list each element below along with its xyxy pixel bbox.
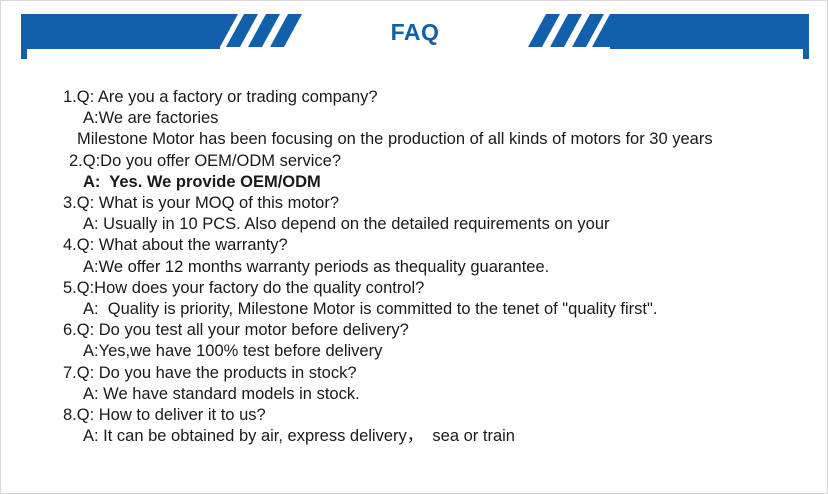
faq-question: 4.Q: What about the warranty? xyxy=(1,235,828,256)
faq-list: 1.Q: Are you a factory or trading compan… xyxy=(1,87,828,447)
faq-continuation: Milestone Motor has been focusing on the… xyxy=(1,129,828,150)
faq-answer: A: We have standard models in stock. xyxy=(1,384,828,405)
faq-question: 2.Q:Do you offer OEM/ODM service? xyxy=(1,151,828,172)
faq-question: 5.Q:How does your factory do the quality… xyxy=(1,278,828,299)
faq-question: 8.Q: How to deliver it to us? xyxy=(1,405,828,426)
faq-page: FAQ 1.Q: Are you a factory or trading co… xyxy=(0,0,828,494)
faq-question: 3.Q: What is your MOQ of this motor? xyxy=(1,193,828,214)
faq-answer: A: Usually in 10 PCS. Also depend on the… xyxy=(1,214,828,235)
faq-answer: A:We are factories xyxy=(1,108,828,129)
faq-answer: A: Yes. We provide OEM/ODM xyxy=(1,172,828,193)
faq-question: 1.Q: Are you a factory or trading compan… xyxy=(1,87,828,108)
faq-question: 6.Q: Do you test all your motor before d… xyxy=(1,320,828,341)
faq-question: 7.Q: Do you have the products in stock? xyxy=(1,363,828,384)
page-title: FAQ xyxy=(1,19,828,46)
faq-answer: A:We offer 12 months warranty periods as… xyxy=(1,257,828,278)
faq-answer: A: Quality is priority, Milestone Motor … xyxy=(1,299,828,320)
faq-answer: A:Yes,we have 100% test before delivery xyxy=(1,341,828,362)
header-banner: FAQ xyxy=(1,1,828,73)
faq-answer: A: It can be obtained by air, express de… xyxy=(1,426,828,447)
